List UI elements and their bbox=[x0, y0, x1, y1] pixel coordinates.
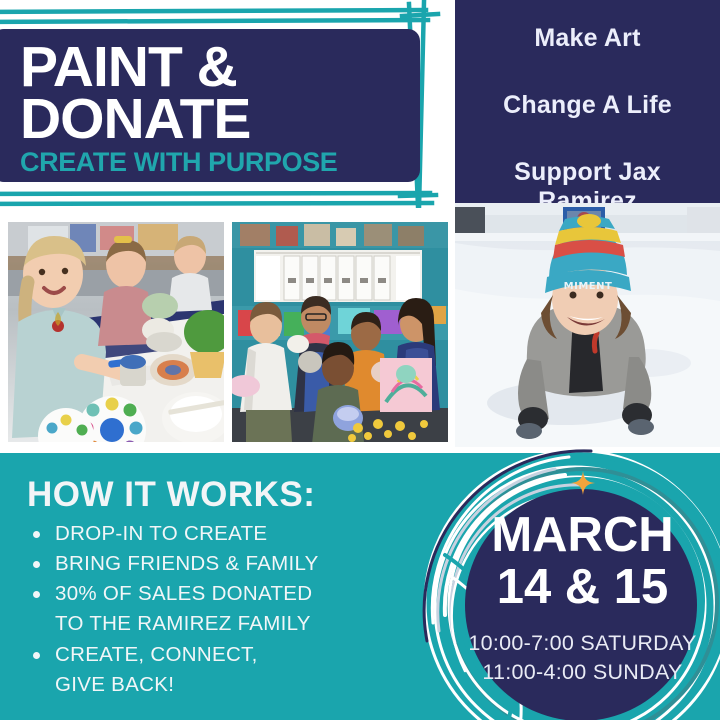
tagline-line-2: Change A Life bbox=[468, 91, 708, 120]
photo-group-holding-artwork bbox=[232, 222, 448, 442]
list-item-continuation: TO THE RAMIREZ FAMILY bbox=[28, 609, 408, 639]
page-title-line1: PAINT & bbox=[20, 39, 420, 93]
event-hours: 10:00-7:00 SATURDAY 11:00-4:00 SUNDAY bbox=[440, 629, 720, 687]
header-band: PAINT & DONATE CREATE WITH PURPOSE Make … bbox=[0, 0, 720, 208]
list-item: BRING FRIENDS & FAMILY bbox=[28, 549, 408, 579]
title-card: PAINT & DONATE CREATE WITH PURPOSE bbox=[0, 29, 420, 182]
list-item: 30% OF SALES DONATED bbox=[28, 579, 408, 609]
photo-girl-painting-pottery bbox=[8, 222, 224, 442]
four-point-star-icon bbox=[571, 471, 595, 495]
event-days: 14 & 15 bbox=[440, 563, 720, 612]
tagline-line-1: Make Art bbox=[468, 24, 708, 53]
event-hours-saturday: 10:00-7:00 SATURDAY bbox=[440, 629, 720, 658]
list-item-continuation: GIVE BACK! bbox=[28, 670, 408, 700]
tagline-line-3-text: Support Jax bbox=[514, 158, 661, 186]
list-item: DROP-IN TO CREATE bbox=[28, 519, 408, 549]
photo-strip: MIMENT bbox=[0, 208, 720, 453]
event-month: MARCH bbox=[440, 511, 720, 560]
tagline-panel: Make Art Change A Life Support Jax Ramir… bbox=[455, 0, 720, 208]
svg-text:MIMENT: MIMENT bbox=[564, 281, 613, 292]
date-badge: MARCH 14 & 15 10:00-7:00 SATURDAY 11:00-… bbox=[440, 455, 720, 720]
photo-jax-in-snow: MIMENT bbox=[455, 203, 720, 447]
list-item: CREATE, CONNECT, bbox=[28, 640, 408, 670]
page-title-line2: DONATE bbox=[20, 93, 420, 145]
page-subtitle: CREATE WITH PURPOSE bbox=[20, 147, 420, 178]
flyer-canvas: PAINT & DONATE CREATE WITH PURPOSE Make … bbox=[0, 0, 720, 720]
how-it-works-heading: HOW IT WORKS: bbox=[27, 475, 315, 515]
event-hours-sunday: 11:00-4:00 SUNDAY bbox=[440, 658, 720, 687]
how-it-works-list: DROP-IN TO CREATE BRING FRIENDS & FAMILY… bbox=[28, 519, 408, 700]
